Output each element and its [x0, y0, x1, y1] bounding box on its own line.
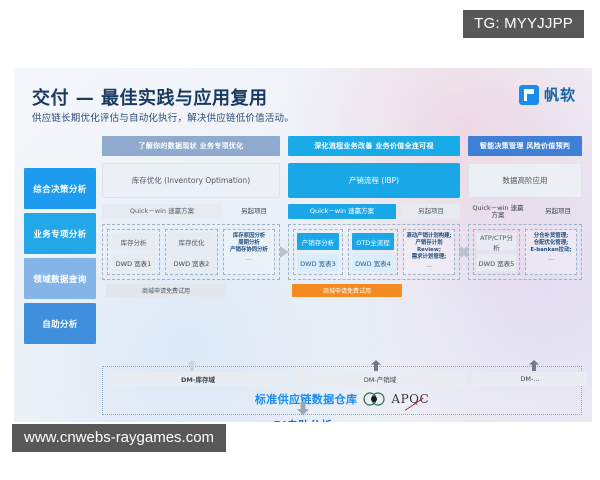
dm-row: DM-库存域 DM-产销域 DM-...: [109, 372, 575, 386]
sidebar-item-self-service[interactable]: 自助分析: [24, 303, 96, 344]
sidebar-item-label: 自助分析: [42, 318, 78, 330]
mini-box-title[interactable]: OTD全流程: [352, 233, 394, 250]
mini-box-label: DWD 宽表1: [111, 254, 156, 271]
apqc-logo: APQC: [391, 392, 429, 406]
dm-box-inventory[interactable]: DM-库存域: [109, 372, 287, 386]
presentation-slide: 交付 — 最佳实践与应用复用 供应链长期优化评估与自动化执行，解决供应链低价值活…: [14, 68, 592, 422]
sidebar-item-business-special[interactable]: 业务专项分析: [24, 213, 96, 254]
column-process: 产销流程 (IBP) Quick－win 速赢方案 另起项目 产销存分析 DWD…: [288, 163, 460, 297]
bi-self-service-title: BI自助分析: [14, 417, 592, 422]
mini-cell-otd: OTD全流程 DWD 宽表4: [348, 229, 398, 275]
venn-icon: [363, 392, 385, 406]
arrow-up-icon: [529, 360, 539, 371]
mini-cell-psi-analysis: 产销存分析 DWD 宽表3: [293, 229, 343, 275]
mini-box-label: DWD 宽表3: [297, 254, 339, 271]
note-cell-inventory: 库存原因分析 周期分析 产销存协同分析 ···: [223, 229, 275, 275]
dm-box-other[interactable]: DM-...: [473, 372, 587, 386]
mini-cell-inventory-optimize: 库存优化 DWD 宽表2: [165, 229, 218, 275]
venn-diagram-icon: [363, 392, 385, 406]
layer-sidebar: 综合决策分析 业务专项分析 领域数据查询 自助分析: [24, 168, 96, 348]
alt-project-label[interactable]: 另起项目: [402, 204, 460, 219]
arrow-left-icon: [459, 246, 468, 258]
note-ellipsis: ···: [548, 257, 554, 264]
arrow-right-icon: [280, 246, 289, 258]
arrow-up-icon: [371, 360, 381, 371]
note-ellipsis: ···: [246, 257, 252, 264]
solution-box-inventory[interactable]: 库存优化 (Inventory Optimation): [102, 163, 280, 198]
note-text: 分仓补货管理; 仓配优化管理; E-bankan拉动;: [530, 233, 571, 254]
sidebar-item-comprehensive-decision[interactable]: 综合决策分析: [24, 168, 96, 209]
column-header-decision: 智能决策管理 风险价值预判: [468, 136, 582, 156]
slide-screenshot: TG: MYYJJPP 交付 — 最佳实践与应用复用 供应链长期优化评估与自动化…: [0, 0, 600, 480]
dashed-group-decision: ATP/CTP分析 DWD 宽表5 分仓补货管理; 仓配优化管理; E-bank…: [468, 224, 582, 280]
dm-box-process[interactable]: DM-产销域: [294, 372, 466, 386]
mini-box-label: DWD 宽表2: [169, 254, 214, 271]
quick-win-button[interactable]: Quick－win 速赢方案: [288, 204, 396, 219]
brand-logo: 帆软: [519, 84, 576, 105]
mini-box-label: DWD 宽表5: [477, 254, 516, 271]
dashed-group-process: 产销存分析 DWD 宽表3 OTD全流程 DWD 宽表4 滚动产销计划构建; 产…: [288, 224, 460, 280]
dashed-group-inventory: 库存分析 DWD 宽表1 库存优化 DWD 宽表2 库存原因分析 周期分析 产销…: [102, 224, 280, 280]
quick-win-button[interactable]: Quick－win 速赢方案: [468, 204, 528, 219]
sidebar-item-label: 业务专项分析: [33, 228, 86, 240]
warehouse-container: DM-库存域 DM-产销域 DM-... 标准供应链数据仓库 APQC: [102, 366, 582, 415]
note-text: 滚动产销计划构建; 产销存计划 Review; 需求计划管理;: [406, 233, 451, 261]
column-header-inventory: 了解你的数据现状 业务专项优化: [102, 136, 280, 156]
quickwin-row: Quick－win 速赢方案 另起项目: [102, 204, 280, 219]
note-ellipsis: ···: [426, 264, 432, 271]
alt-project-label[interactable]: 另起项目: [534, 204, 582, 219]
column-decision: 数据高阶应用 Quick－win 速赢方案 另起项目 ATP/CTP分析 DWD…: [468, 163, 582, 297]
apqc-slash-icon: [397, 385, 424, 411]
alt-project-label[interactable]: 另起项目: [228, 204, 280, 219]
sidebar-item-domain-query[interactable]: 领域数据查询: [24, 258, 96, 299]
brand-name: 帆软: [544, 84, 576, 105]
telegram-watermark: TG: MYYJJPP: [463, 10, 584, 38]
trial-button-process[interactable]: 商城申请免费试用: [292, 284, 402, 297]
mini-cell-inventory-analysis: 库存分析 DWD 宽表1: [107, 229, 160, 275]
sidebar-item-label: 领域数据查询: [33, 273, 86, 285]
page-subtitle: 供应链长期优化评估与自动化执行，解决供应链低价值活动。: [32, 110, 294, 124]
quick-win-button[interactable]: Quick－win 速赢方案: [102, 204, 222, 219]
solution-box-advanced[interactable]: 数据高阶应用: [468, 163, 582, 198]
note-cell-decision: 分仓补货管理; 仓配优化管理; E-bankan拉动; ···: [525, 229, 577, 275]
mini-box-title[interactable]: 库存分析: [111, 233, 156, 250]
mini-cell-atp-ctp: ATP/CTP分析 DWD 宽表5: [473, 229, 520, 275]
quickwin-row: Quick－win 速赢方案 另起项目: [468, 204, 582, 219]
column-inventory: 库存优化 (Inventory Optimation) Quick－win 速赢…: [102, 163, 280, 297]
trial-button-inventory[interactable]: 商城申请免费试用: [106, 284, 226, 297]
mini-box-title[interactable]: 库存优化: [169, 233, 214, 250]
data-warehouse-section: DM-库存域 DM-产销域 DM-... 标准供应链数据仓库 APQC: [102, 366, 582, 415]
solution-box-ibp[interactable]: 产销流程 (IBP): [288, 163, 460, 198]
arrow-up-icon: [187, 360, 197, 371]
fanruan-logo-icon: [519, 85, 539, 105]
sidebar-item-label: 综合决策分析: [33, 183, 86, 195]
columns-body: 库存优化 (Inventory Optimation) Quick－win 速赢…: [102, 163, 582, 297]
page-title: 交付 — 最佳实践与应用复用: [32, 84, 268, 110]
mini-box-title[interactable]: 产销存分析: [297, 233, 339, 250]
note-cell-process: 滚动产销计划构建; 产销存计划 Review; 需求计划管理; ···: [403, 229, 455, 275]
main-diagram: 了解你的数据现状 业务专项优化 深化流程业务改善 业务价值全连可视 智能决策管理…: [102, 136, 582, 297]
quickwin-row: Quick－win 速赢方案 另起项目: [288, 204, 460, 219]
column-header-process: 深化流程业务改善 业务价值全连可视: [288, 136, 460, 156]
site-watermark: www.cnwebs-raygames.com: [12, 424, 226, 452]
warehouse-title: 标准供应链数据仓库: [255, 391, 358, 407]
mini-box-title[interactable]: ATP/CTP分析: [477, 233, 516, 250]
note-text: 库存原因分析 周期分析 产销存协同分析: [230, 233, 268, 254]
warehouse-title-row: 标准供应链数据仓库 APQC: [109, 391, 575, 407]
mini-box-label: DWD 宽表4: [352, 254, 394, 271]
column-headers-row: 了解你的数据现状 业务专项优化 深化流程业务改善 业务价值全连可视 智能决策管理…: [102, 136, 582, 156]
